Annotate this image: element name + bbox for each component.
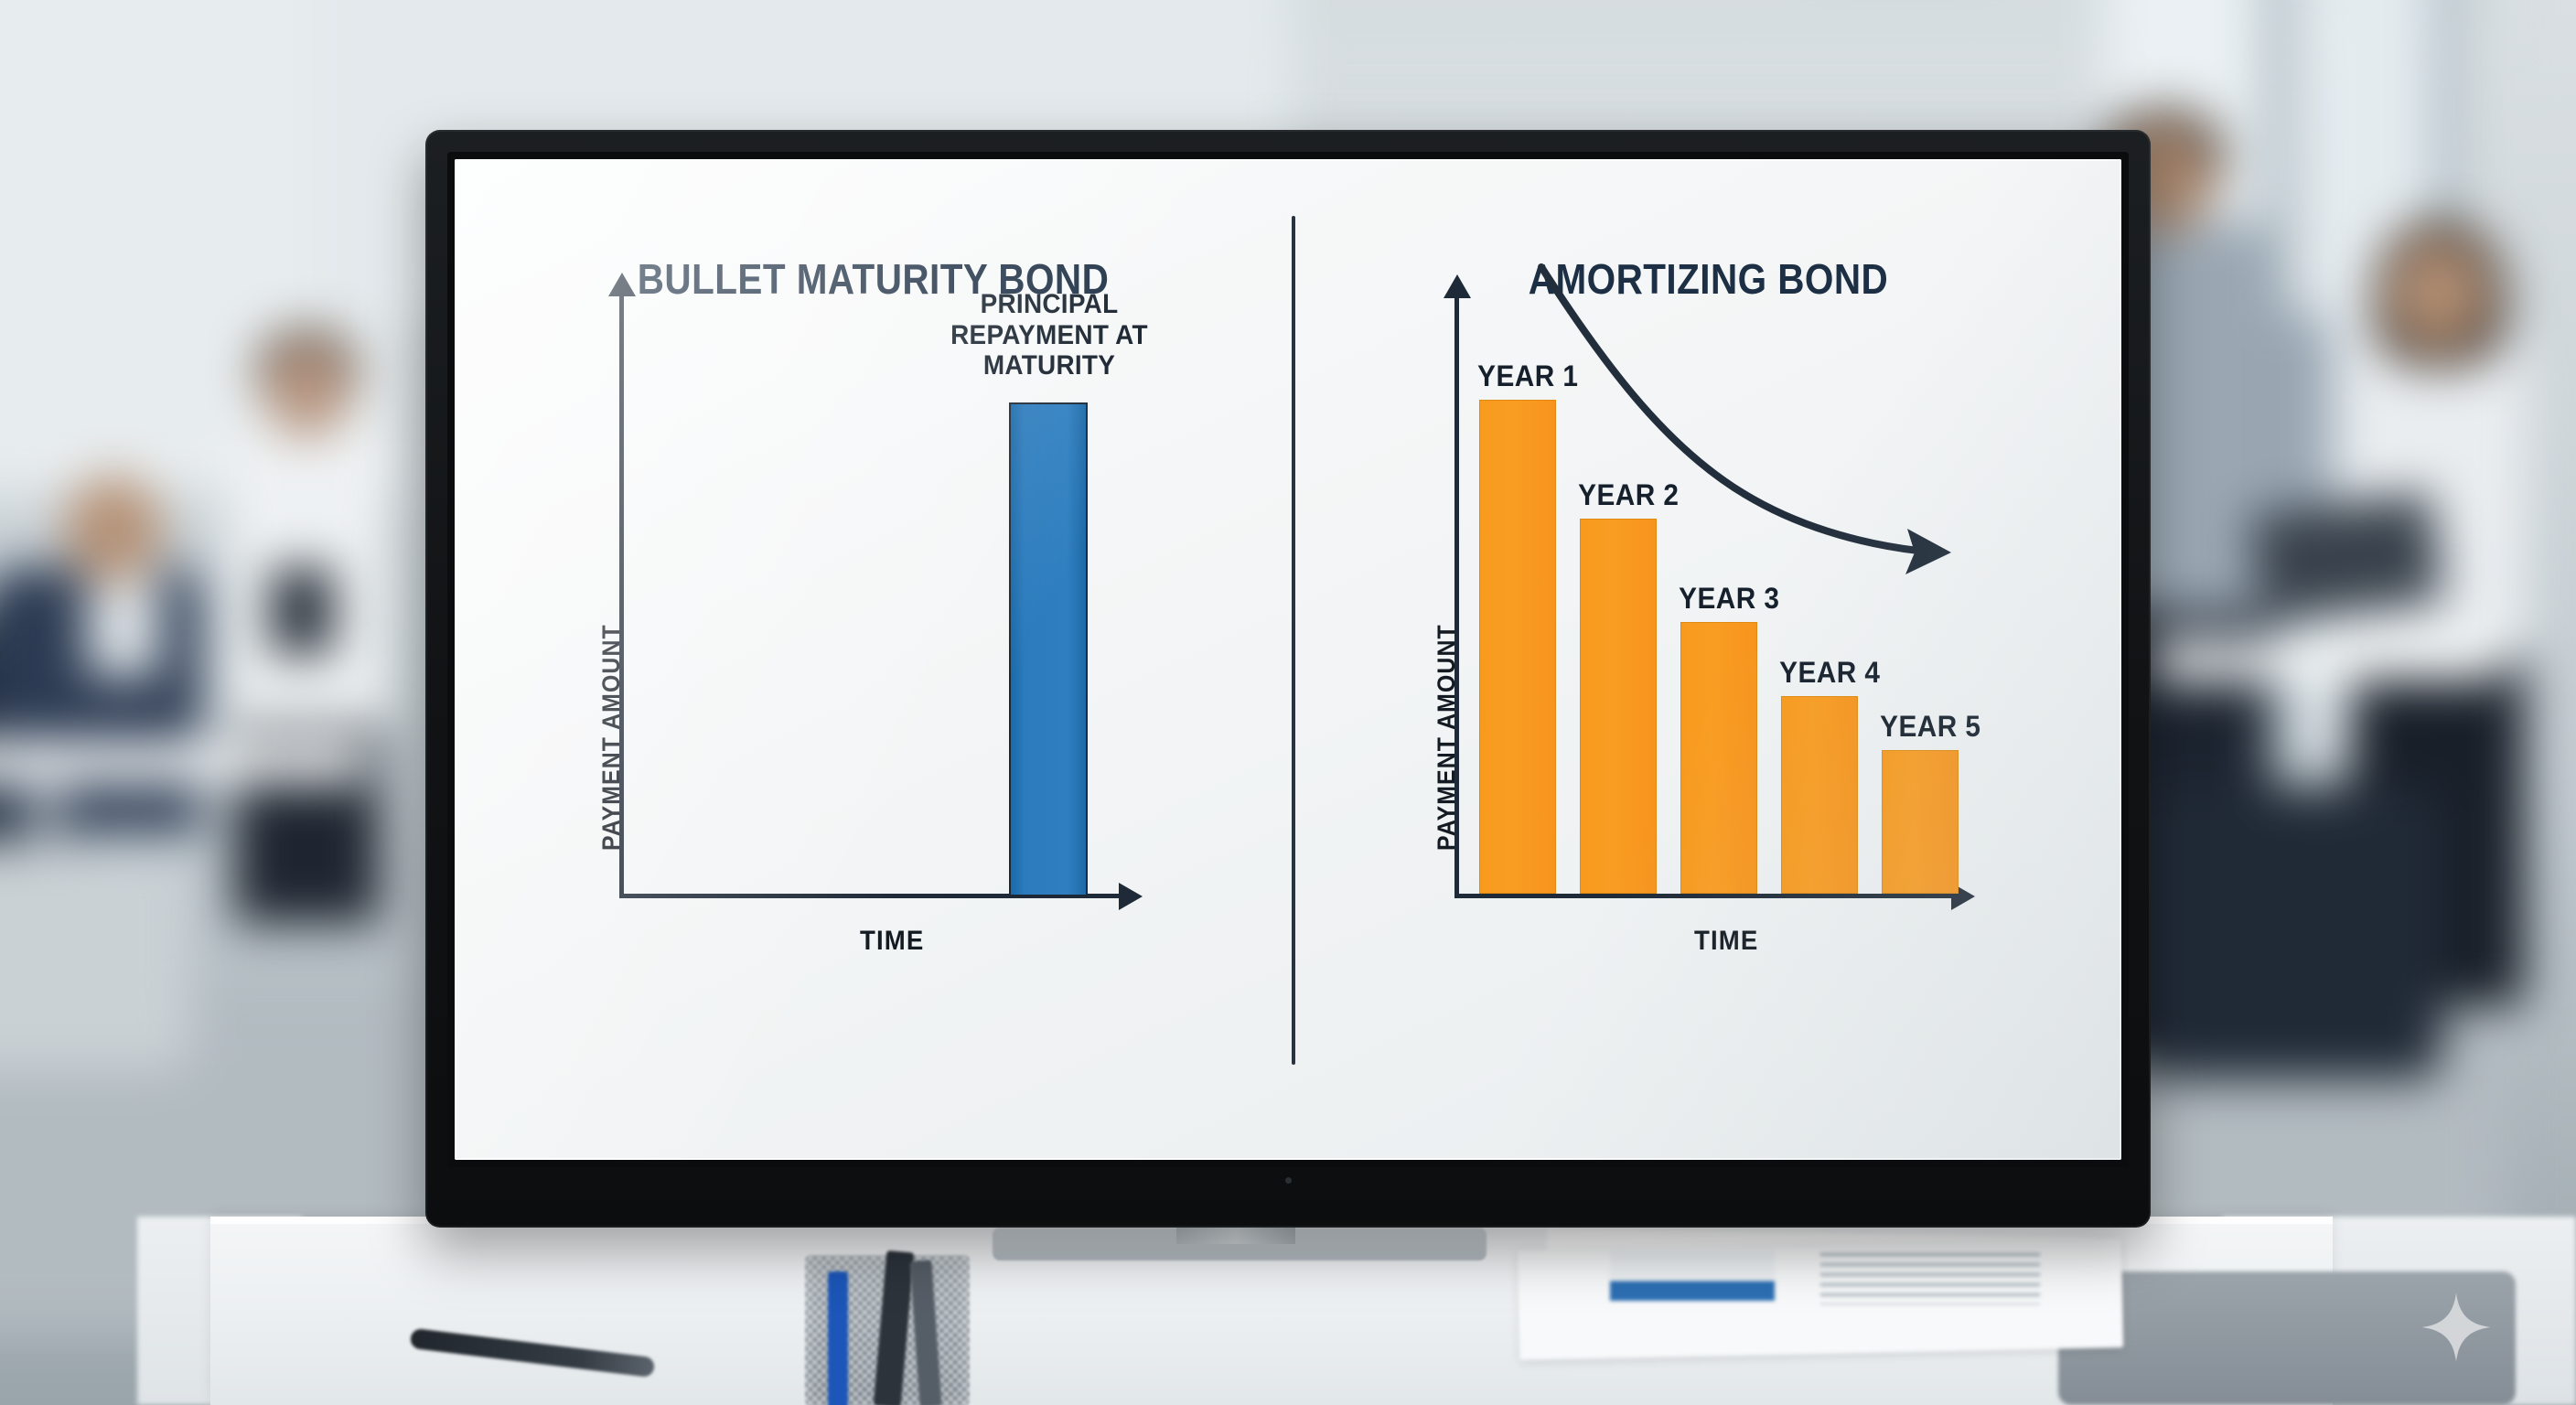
person-seated-shirt — [87, 567, 160, 677]
amortizing-bar-label: YEAR 5 — [1880, 710, 1980, 744]
printed-chart — [1610, 1251, 1775, 1301]
screenshot-scene: BULLET MATURITY BOND PAYMENT AMOUNT TIME… — [0, 0, 2576, 1405]
power-led-icon — [1285, 1177, 1292, 1184]
amortizing-bar-label: YEAR 4 — [1779, 656, 1880, 690]
desk-background-left — [0, 741, 366, 783]
person-seated-head — [64, 476, 163, 584]
amortizing-bar — [1781, 696, 1858, 894]
person-standing-left-skirt — [234, 695, 381, 924]
slide-canvas: BULLET MATURITY BOND PAYMENT AMOUNT TIME… — [455, 159, 2121, 1160]
left-x-axis-label: TIME — [860, 926, 924, 957]
callout-line-3: MATURITY — [922, 350, 1177, 381]
sparkle-icon — [2420, 1292, 2492, 1363]
amortizing-bar — [1680, 622, 1757, 894]
declining-trend-arrow-icon — [1443, 260, 2028, 589]
person-standing-left-document — [270, 567, 334, 655]
tablet-device — [2249, 492, 2443, 623]
callout-line-2: REPAYMENT AT — [922, 320, 1177, 351]
desk-background-right — [2150, 640, 2503, 681]
person-far-right-head — [2388, 238, 2488, 349]
right-y-axis-label: PAYMENT AMOUNT — [1433, 624, 1461, 851]
bullet-maturity-bar — [1009, 402, 1088, 896]
left-x-axis-arrow-icon — [1119, 883, 1143, 910]
printed-text-lines — [1820, 1253, 2040, 1304]
amortizing-bar — [1882, 750, 1959, 894]
left-y-axis-arrow-icon — [608, 273, 636, 296]
left-y-axis-label: PAYMENT AMOUNT — [597, 624, 626, 851]
principal-repayment-callout: PRINCIPAL REPAYMENT AT MATURITY — [922, 289, 1177, 381]
right-x-axis-label: TIME — [1694, 926, 1758, 957]
person-standing-left-head — [265, 343, 349, 438]
callout-line-1: PRINCIPAL — [922, 289, 1177, 320]
chair-foreground-right — [2141, 787, 2442, 1079]
chair-foreground-left — [0, 842, 192, 1070]
monitor-screen[interactable]: BULLET MATURITY BOND PAYMENT AMOUNT TIME… — [455, 159, 2121, 1160]
panel-divider — [1292, 216, 1295, 1065]
right-x-axis — [1454, 894, 1953, 898]
cup-pen-blue — [828, 1271, 848, 1405]
monitor: BULLET MATURITY BOND PAYMENT AMOUNT TIME… — [425, 130, 2151, 1228]
